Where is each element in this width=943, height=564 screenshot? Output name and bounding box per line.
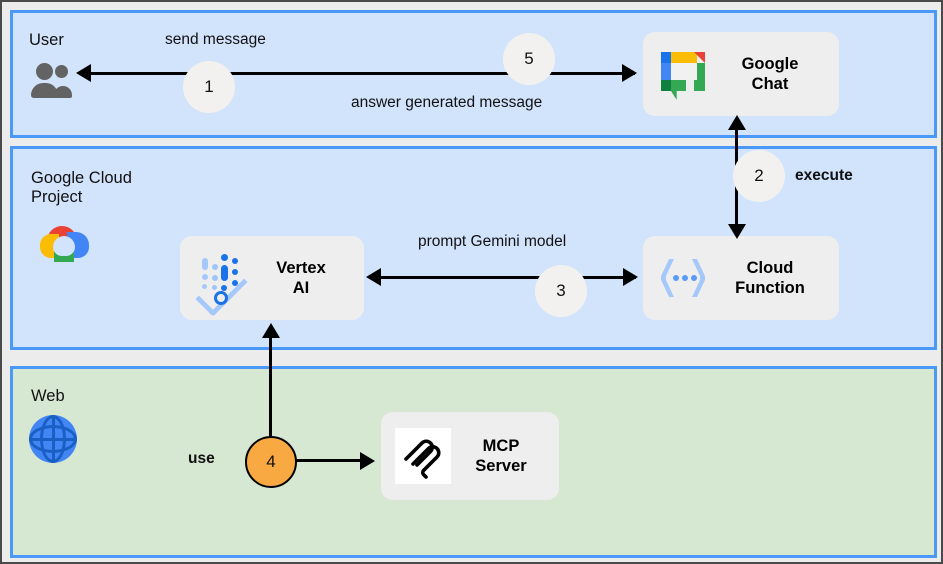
- edge-label-prompt-gemini-model: prompt Gemini model: [418, 233, 566, 251]
- edge-label-execute: execute: [795, 167, 853, 185]
- zone-user-label: User: [29, 31, 64, 50]
- edge-arrow-to-user: [76, 64, 91, 82]
- mcp-icon: [395, 428, 451, 484]
- edge-arrow-to-google-chat: [622, 64, 637, 82]
- diagram-canvas: User Google Cloud Project Web: [0, 0, 943, 564]
- node-vertex-ai[interactable]: Vertex AI: [180, 236, 364, 320]
- vertex-ai-icon: [194, 252, 246, 304]
- edge-label-answer-generated-message: answer generated message: [351, 94, 542, 112]
- people-icon: [29, 57, 81, 109]
- node-cloud-function[interactable]: Cloud Function: [643, 236, 839, 320]
- badge-step-3: 3: [535, 265, 587, 317]
- node-vertex-ai-label: Vertex AI: [252, 258, 350, 298]
- edge-arrow-to-cloud-function-down: [728, 224, 746, 239]
- edge-label-use: use: [188, 450, 215, 468]
- edge-arrow-to-cloud-function: [623, 268, 638, 286]
- edge-arrow-to-vertex-ai-up: [262, 323, 280, 338]
- edge-arrow-to-mcp-server: [360, 452, 375, 470]
- node-mcp-server-label: MCP Server: [457, 436, 545, 476]
- edge-user-chat-line: [90, 72, 635, 75]
- google-chat-icon: [657, 48, 709, 100]
- edge-arrow-to-vertex-ai: [366, 268, 381, 286]
- google-cloud-icon: [39, 221, 91, 265]
- globe-icon: [27, 413, 79, 465]
- node-mcp-server[interactable]: MCP Server: [381, 412, 559, 500]
- badge-step-4: 4: [245, 436, 297, 488]
- zone-web-label: Web: [31, 387, 65, 406]
- node-google-chat-label: Google Chat: [715, 54, 825, 94]
- zone-gcp-label: Google Cloud Project: [31, 169, 132, 207]
- edge-label-send-message: send message: [165, 31, 266, 49]
- node-cloud-function-label: Cloud Function: [715, 258, 825, 298]
- badge-step-1: 1: [183, 61, 235, 113]
- node-google-chat[interactable]: Google Chat: [643, 32, 839, 116]
- badge-step-5: 5: [503, 33, 555, 85]
- edge-vertex-function-line: [380, 276, 636, 279]
- badge-step-2: 2: [733, 150, 785, 202]
- edge-arrow-to-google-chat-up: [728, 115, 746, 130]
- cloud-function-icon: [657, 252, 709, 304]
